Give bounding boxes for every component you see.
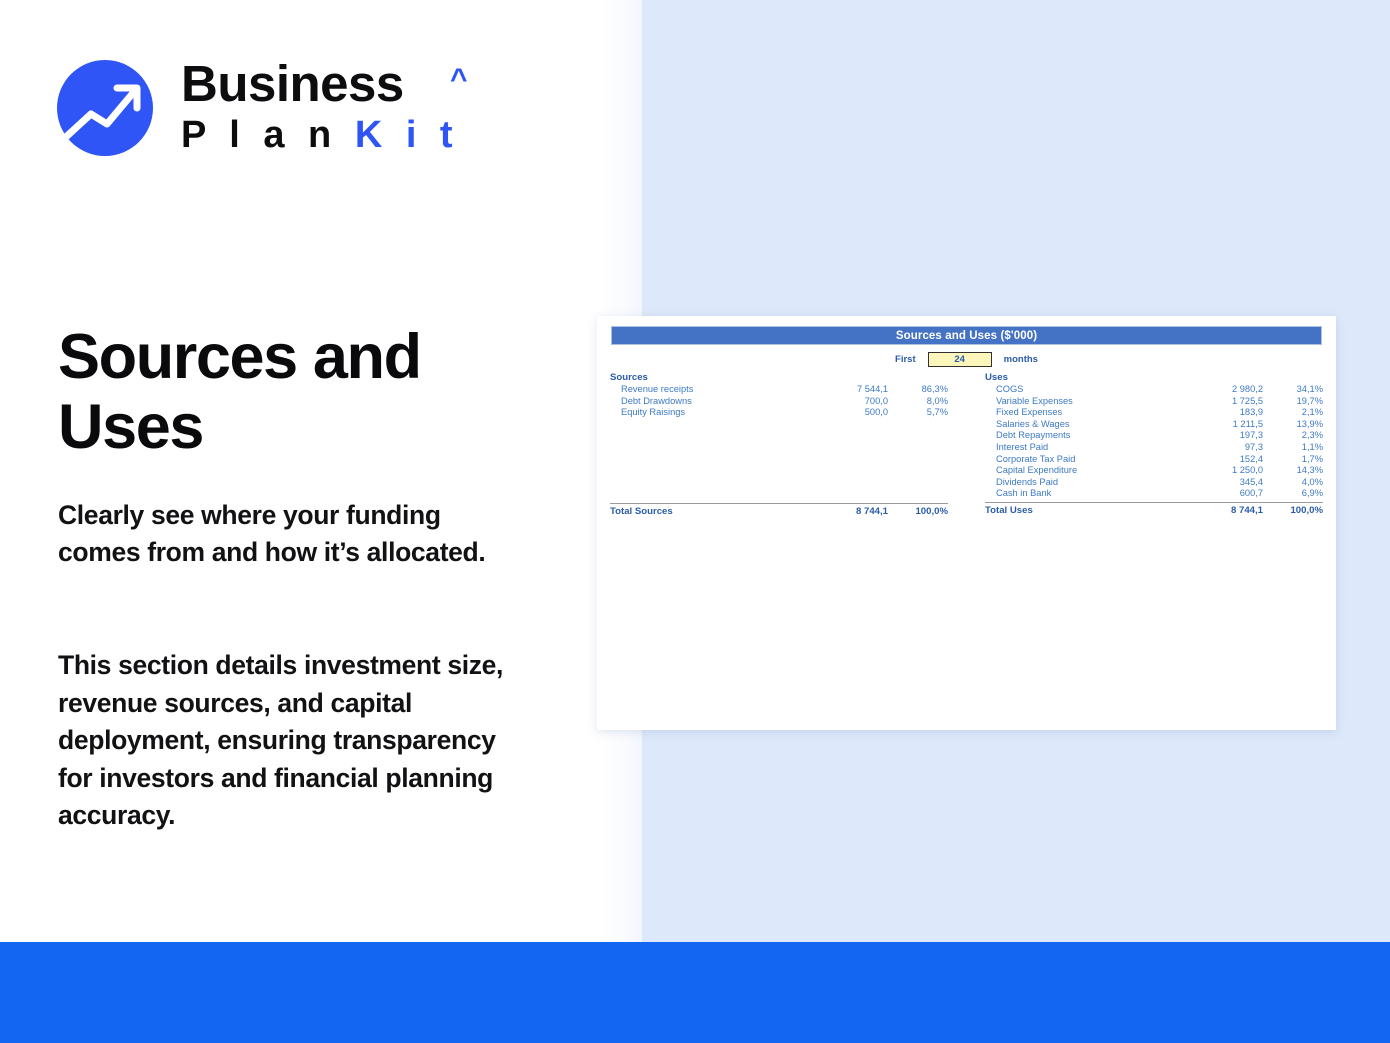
table-row: Cash in Bank 600,7 6,9% (985, 488, 1323, 500)
growth-arrow-icon (57, 60, 153, 156)
total-label: Total Sources (610, 505, 796, 519)
row-value: 500,0 (796, 407, 888, 419)
footer-accent-bar (0, 942, 1390, 1043)
table-row: Variable Expenses 1 725,5 19,7% (985, 396, 1323, 408)
row-value: 345,4 (1171, 477, 1263, 489)
description-paragraph-1: Clearly see where your funding comes fro… (58, 497, 528, 571)
row-percent: 19,7% (1263, 396, 1323, 408)
brand-word-plan: P l a n (181, 114, 338, 156)
sheet-title-banner: Sources and Uses ($'000) (611, 326, 1322, 345)
table-row: Interest Paid 97,3 1,1% (985, 442, 1323, 454)
row-value: 700,0 (796, 396, 888, 408)
row-value: 7 544,1 (796, 384, 888, 396)
row-percent: 5,7% (888, 407, 948, 419)
row-label: Dividends Paid (985, 477, 1171, 489)
total-percent: 100,0% (1263, 504, 1323, 518)
row-value: 97,3 (1171, 442, 1263, 454)
row-label: Corporate Tax Paid (985, 454, 1171, 466)
row-percent: 6,9% (1263, 488, 1323, 500)
row-percent: 1,1% (1263, 442, 1323, 454)
row-percent: 13,9% (1263, 419, 1323, 431)
table-row: Debt Drawdowns 700,0 8,0% (610, 396, 948, 408)
row-percent: 34,1% (1263, 384, 1323, 396)
table-row: Fixed Expenses 183,9 2,1% (985, 407, 1323, 419)
row-value: 1 250,0 (1171, 465, 1263, 477)
row-percent: 4,0% (1263, 477, 1323, 489)
row-percent: 2,1% (1263, 407, 1323, 419)
table-row: Equity Raisings 500,0 5,7% (610, 407, 948, 419)
row-value: 197,3 (1171, 430, 1263, 442)
sources-empty-space (610, 419, 948, 501)
page-title: Sources and Uses (58, 322, 578, 462)
row-label: COGS (985, 384, 1171, 396)
table-row: Debt Repayments 197,3 2,3% (985, 430, 1323, 442)
description-paragraph-2: This section details investment size, re… (58, 647, 528, 835)
row-label: Salaries & Wages (985, 419, 1171, 431)
brand-word-kit: K i t (355, 114, 459, 156)
row-value: 600,7 (1171, 488, 1263, 500)
period-prefix-label: First (895, 354, 916, 365)
total-value: 8 744,1 (796, 505, 888, 519)
sources-table: Sources Revenue receipts 7 544,1 86,3% D… (610, 372, 948, 519)
row-percent: 14,3% (1263, 465, 1323, 477)
row-label: Revenue receipts (610, 384, 796, 396)
brand-name-line1: Business (181, 57, 459, 111)
period-selector-row: First 24 months (597, 350, 1336, 368)
row-label: Variable Expenses (985, 396, 1171, 408)
row-label: Cash in Bank (985, 488, 1171, 500)
total-percent: 100,0% (888, 505, 948, 519)
uses-total-divider (985, 502, 1323, 503)
row-label: Debt Repayments (985, 430, 1171, 442)
row-label: Capital Expenditure (985, 465, 1171, 477)
sources-rows: Revenue receipts 7 544,1 86,3% Debt Draw… (610, 384, 948, 419)
brand-name-line2: P l a n K i t (181, 113, 459, 157)
sources-total-divider (610, 503, 948, 504)
row-value: 1 725,5 (1171, 396, 1263, 408)
row-value: 2 980,2 (1171, 384, 1263, 396)
period-suffix-label: months (1004, 354, 1038, 365)
table-row: Dividends Paid 345,4 4,0% (985, 477, 1323, 489)
row-value: 152,4 (1171, 454, 1263, 466)
uses-total-row: Total Uses 8 744,1 100,0% (985, 504, 1323, 518)
row-label: Interest Paid (985, 442, 1171, 454)
table-row: Revenue receipts 7 544,1 86,3% (610, 384, 948, 396)
row-label: Debt Drawdowns (610, 396, 796, 408)
table-row: Corporate Tax Paid 152,4 1,7% (985, 454, 1323, 466)
total-label: Total Uses (985, 504, 1171, 518)
spreadsheet-screenshot-card: Sources and Uses ($'000) First 24 months… (597, 316, 1336, 730)
uses-rows: COGS 2 980,2 34,1% Variable Expenses 1 7… (985, 384, 1323, 500)
uses-heading: Uses (985, 372, 1323, 384)
row-percent: 2,3% (1263, 430, 1323, 442)
sources-heading: Sources (610, 372, 948, 384)
row-percent: 8,0% (888, 396, 948, 408)
sources-total-row: Total Sources 8 744,1 100,0% (610, 505, 948, 519)
uses-table: Uses COGS 2 980,2 34,1% Variable Expense… (985, 372, 1323, 518)
brand-logo: Business P l a n K i t ^ (57, 52, 457, 162)
table-row: COGS 2 980,2 34,1% (985, 384, 1323, 396)
total-value: 8 744,1 (1171, 504, 1263, 518)
row-label: Equity Raisings (610, 407, 796, 419)
row-percent: 86,3% (888, 384, 948, 396)
row-value: 1 211,5 (1171, 419, 1263, 431)
table-row: Capital Expenditure 1 250,0 14,3% (985, 465, 1323, 477)
months-input[interactable]: 24 (928, 352, 992, 367)
row-label: Fixed Expenses (985, 407, 1171, 419)
row-percent: 1,7% (1263, 454, 1323, 466)
row-value: 183,9 (1171, 407, 1263, 419)
circumflex-accent-icon: ^ (450, 63, 468, 97)
table-row: Salaries & Wages 1 211,5 13,9% (985, 419, 1323, 431)
brand-word-business: Business (181, 55, 404, 112)
